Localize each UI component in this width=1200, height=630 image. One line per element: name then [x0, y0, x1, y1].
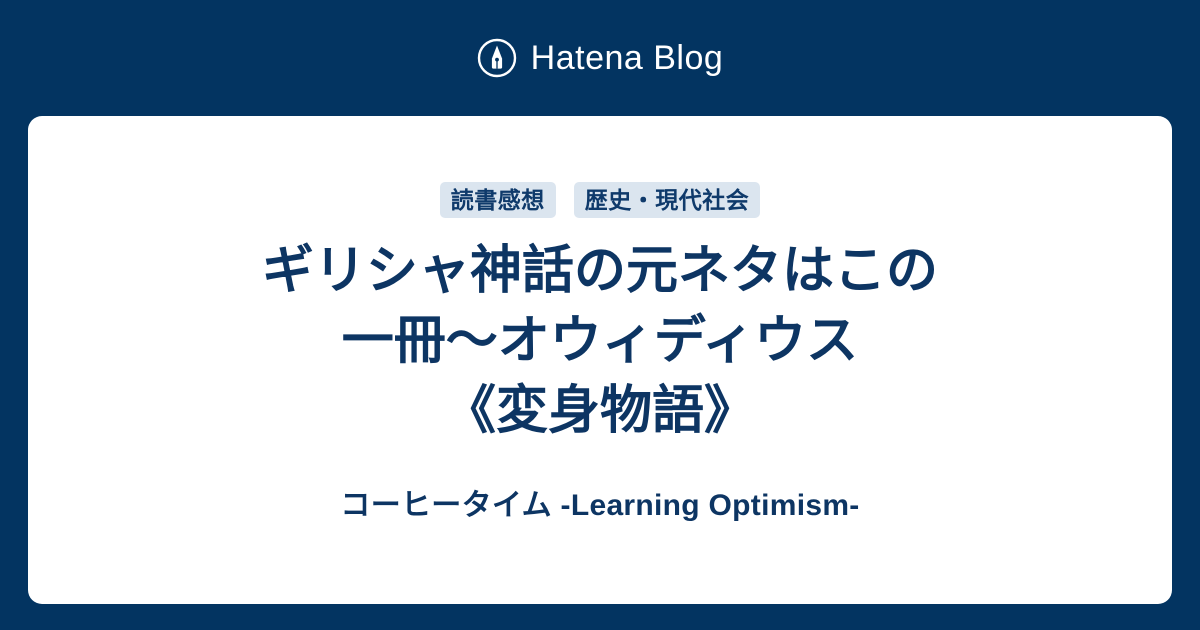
category-tag-history-modern-society[interactable]: 歴史・現代社会: [574, 182, 761, 218]
entry-title-line-1: ギリシャ神話の元ネタはこの: [262, 236, 938, 306]
category-tag-row: 読書感想 歴史・現代社会: [440, 182, 761, 218]
entry-title-line-2: 一冊〜オウィディウス: [262, 306, 938, 376]
blog-name[interactable]: コーヒータイム -Learning Optimism-: [340, 488, 859, 524]
category-tag-reading-impressions[interactable]: 読書感想: [440, 182, 556, 218]
entry-card: 読書感想 歴史・現代社会 ギリシャ神話の元ネタはこの 一冊〜オウィディウス 《変…: [28, 116, 1172, 604]
entry-title: ギリシャ神話の元ネタはこの 一冊〜オウィディウス 《変身物語》: [262, 236, 938, 446]
hatena-blog-brand-name: Hatena Blog: [531, 41, 724, 75]
entry-title-line-3: 《変身物語》: [262, 376, 938, 446]
hatena-pen-nib-icon: [477, 38, 517, 78]
hatena-blog-brand-bar: Hatena Blog: [0, 0, 1200, 116]
